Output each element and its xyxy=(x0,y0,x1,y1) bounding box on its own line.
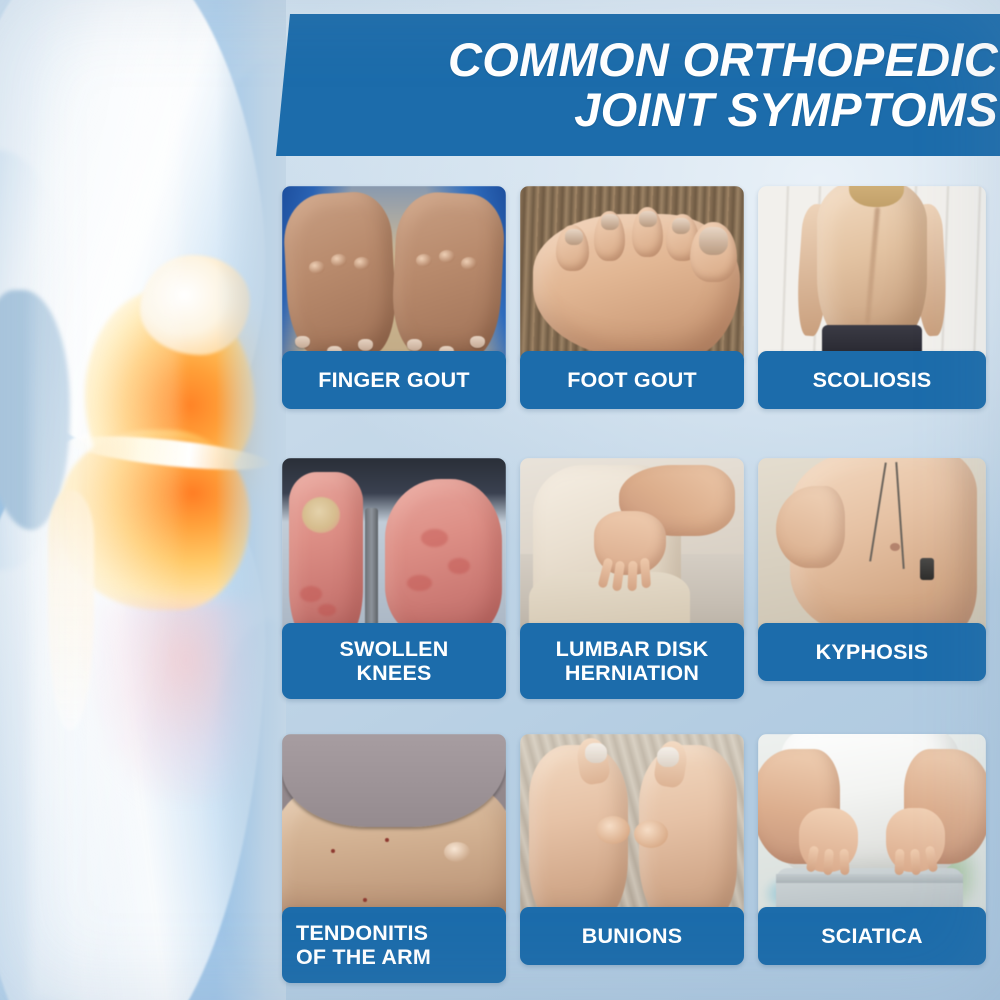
symptom-label-kyphosis[interactable]: KYPHOSIS xyxy=(758,623,986,681)
symptom-label-bunions[interactable]: BUNIONS xyxy=(520,907,744,965)
xray-sheen xyxy=(30,0,180,1000)
symptom-card-scoliosis[interactable]: SCOLIOSIS xyxy=(758,186,986,454)
hero-right-fade xyxy=(216,0,286,1000)
symptom-label-lumbar-disk-herniation[interactable]: LUMBAR DISK HERNIATION xyxy=(520,623,744,699)
photo-sciatica xyxy=(758,734,986,920)
photo-tendonitis-of-the-arm xyxy=(282,734,506,920)
infographic-root: COMMON ORTHOPEDIC JOINT SYMPTOMS xyxy=(0,0,1000,1000)
symptom-card-swollen-knees[interactable]: SWOLLEN KNEES xyxy=(282,458,506,730)
symptom-grid: FINGER GOUT FOOT GOUT xyxy=(282,186,988,986)
symptom-card-kyphosis[interactable]: KYPHOSIS xyxy=(758,458,986,730)
photo-swollen-knees xyxy=(282,458,506,636)
photo-scoliosis xyxy=(758,186,986,364)
symptom-label-finger-gout[interactable]: FINGER GOUT xyxy=(282,351,506,409)
photo-foot-gout xyxy=(520,186,744,364)
page-title: COMMON ORTHOPEDIC JOINT SYMPTOMS xyxy=(448,35,998,135)
symptom-label-sciatica[interactable]: SCIATICA xyxy=(758,907,986,965)
title-banner: COMMON ORTHOPEDIC JOINT SYMPTOMS xyxy=(276,14,1000,156)
photo-lumbar-disk-herniation xyxy=(520,458,744,636)
symptom-label-scoliosis[interactable]: SCOLIOSIS xyxy=(758,351,986,409)
symptom-card-bunions[interactable]: BUNIONS xyxy=(520,734,744,994)
symptom-label-swollen-knees[interactable]: SWOLLEN KNEES xyxy=(282,623,506,699)
symptom-label-tendonitis-of-the-arm[interactable]: TENDONITIS OF THE ARM xyxy=(282,907,506,983)
photo-kyphosis xyxy=(758,458,986,636)
symptom-card-foot-gout[interactable]: FOOT GOUT xyxy=(520,186,744,454)
symptom-card-sciatica[interactable]: SCIATICA xyxy=(758,734,986,994)
symptom-label-foot-gout[interactable]: FOOT GOUT xyxy=(520,351,744,409)
symptom-card-tendonitis-of-the-arm[interactable]: TENDONITIS OF THE ARM xyxy=(282,734,506,994)
photo-bunions xyxy=(520,734,744,920)
knee-joint-anatomy-illustration xyxy=(0,0,286,1000)
symptom-card-lumbar-disk-herniation[interactable]: LUMBAR DISK HERNIATION xyxy=(520,458,744,730)
symptom-card-finger-gout[interactable]: FINGER GOUT xyxy=(282,186,506,454)
photo-finger-gout xyxy=(282,186,506,364)
